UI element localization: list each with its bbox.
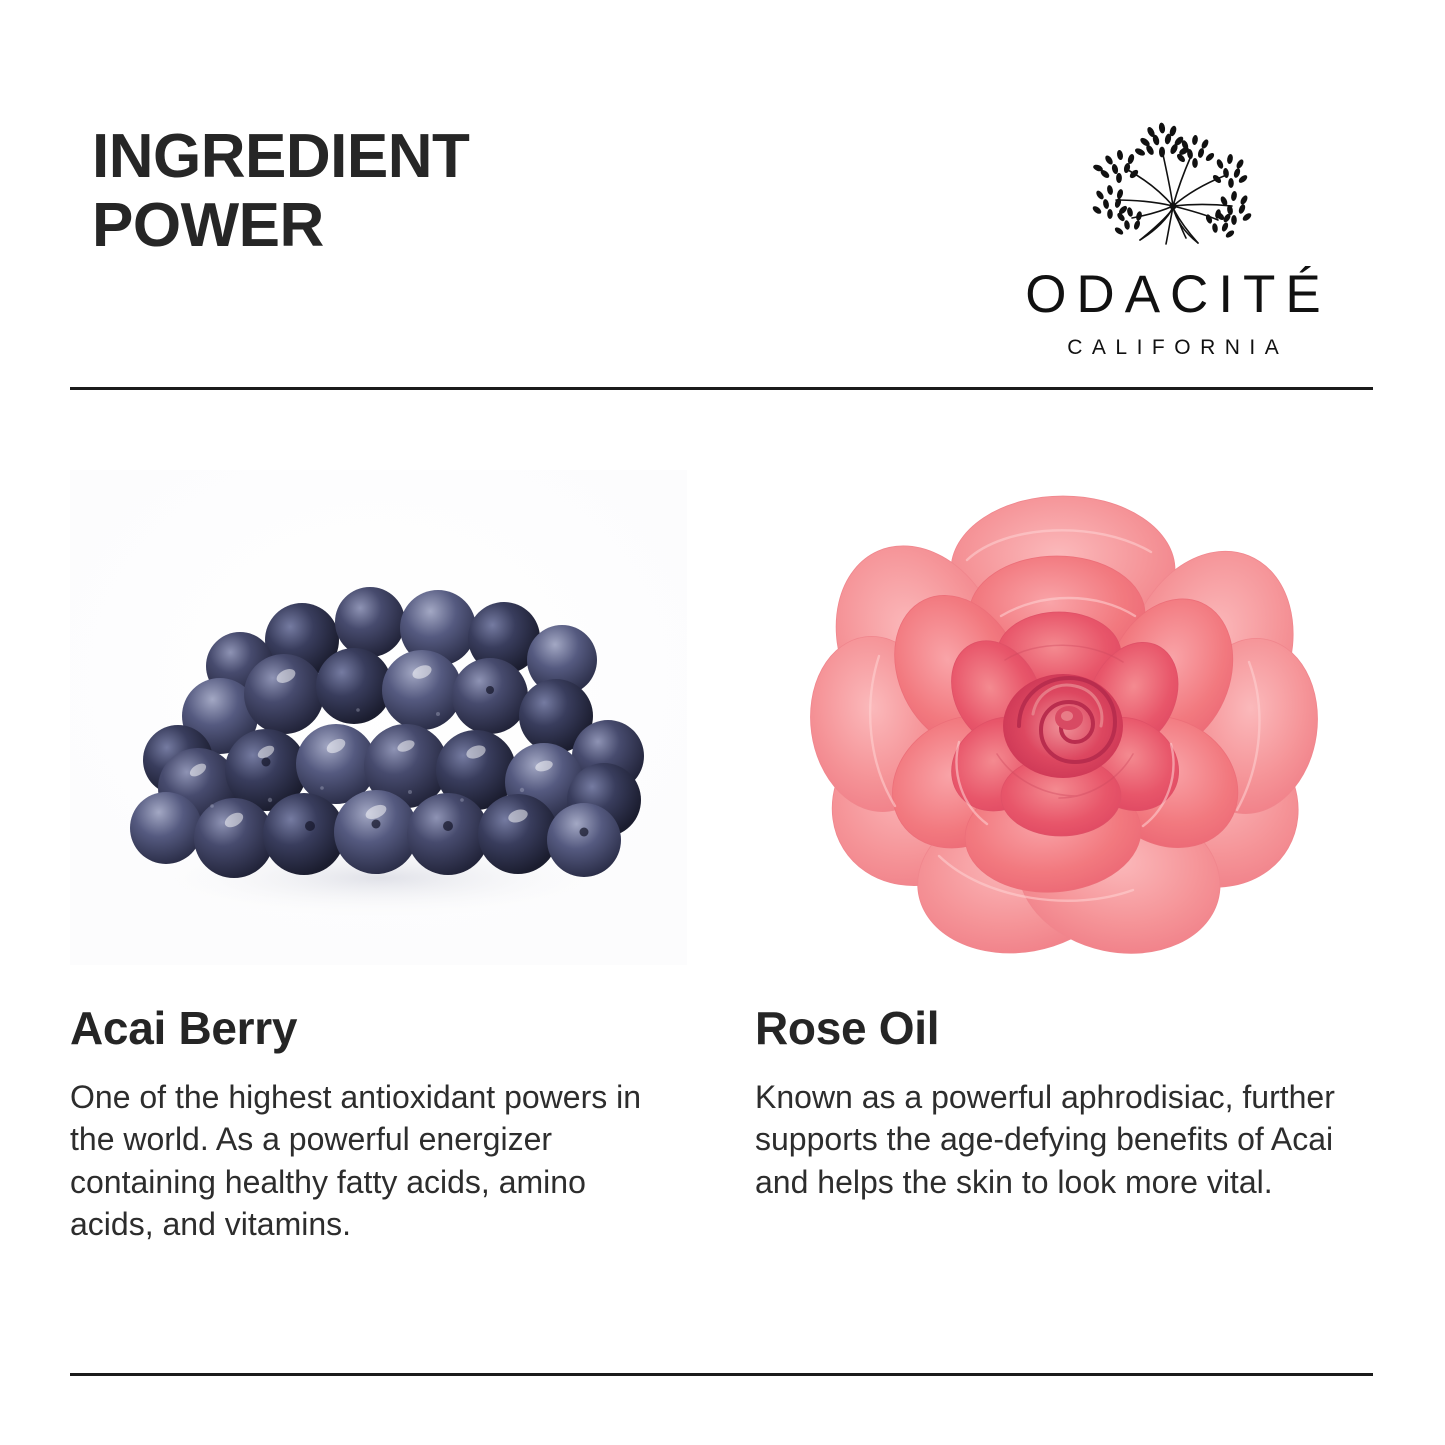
brand-tagline: CALIFORNIA	[1058, 337, 1289, 358]
page-title: INGREDIENT POWER	[92, 122, 712, 261]
ingredient-card-acai-berry: Acai Berry One of the highest antioxidan…	[70, 470, 687, 1300]
divider-bottom	[70, 1373, 1373, 1376]
acai-berry-photo	[70, 470, 687, 965]
ingredient-title: Rose Oil	[755, 1003, 1372, 1054]
brand-logo: ODACITÉ CALIFORNIA	[973, 110, 1373, 360]
ingredient-card-rose-oil: Rose Oil Known as a powerful aphrodisiac…	[755, 470, 1372, 1300]
page-header: INGREDIENT POWER	[70, 110, 1373, 360]
ingredient-power-page: INGREDIENT POWER	[0, 0, 1445, 1445]
ingredient-cards: Acai Berry One of the highest antioxidan…	[70, 470, 1373, 1300]
rose-oil-photo	[755, 470, 1372, 965]
botanical-flower-icon	[1058, 110, 1288, 260]
ingredient-title: Acai Berry	[70, 1003, 687, 1054]
divider-top	[70, 387, 1373, 390]
brand-name: ODACITÉ	[1015, 268, 1331, 321]
ingredient-description: One of the highest antioxidant powers in…	[70, 1076, 670, 1246]
ingredient-description: Known as a powerful aphrodisiac, further…	[755, 1076, 1355, 1204]
